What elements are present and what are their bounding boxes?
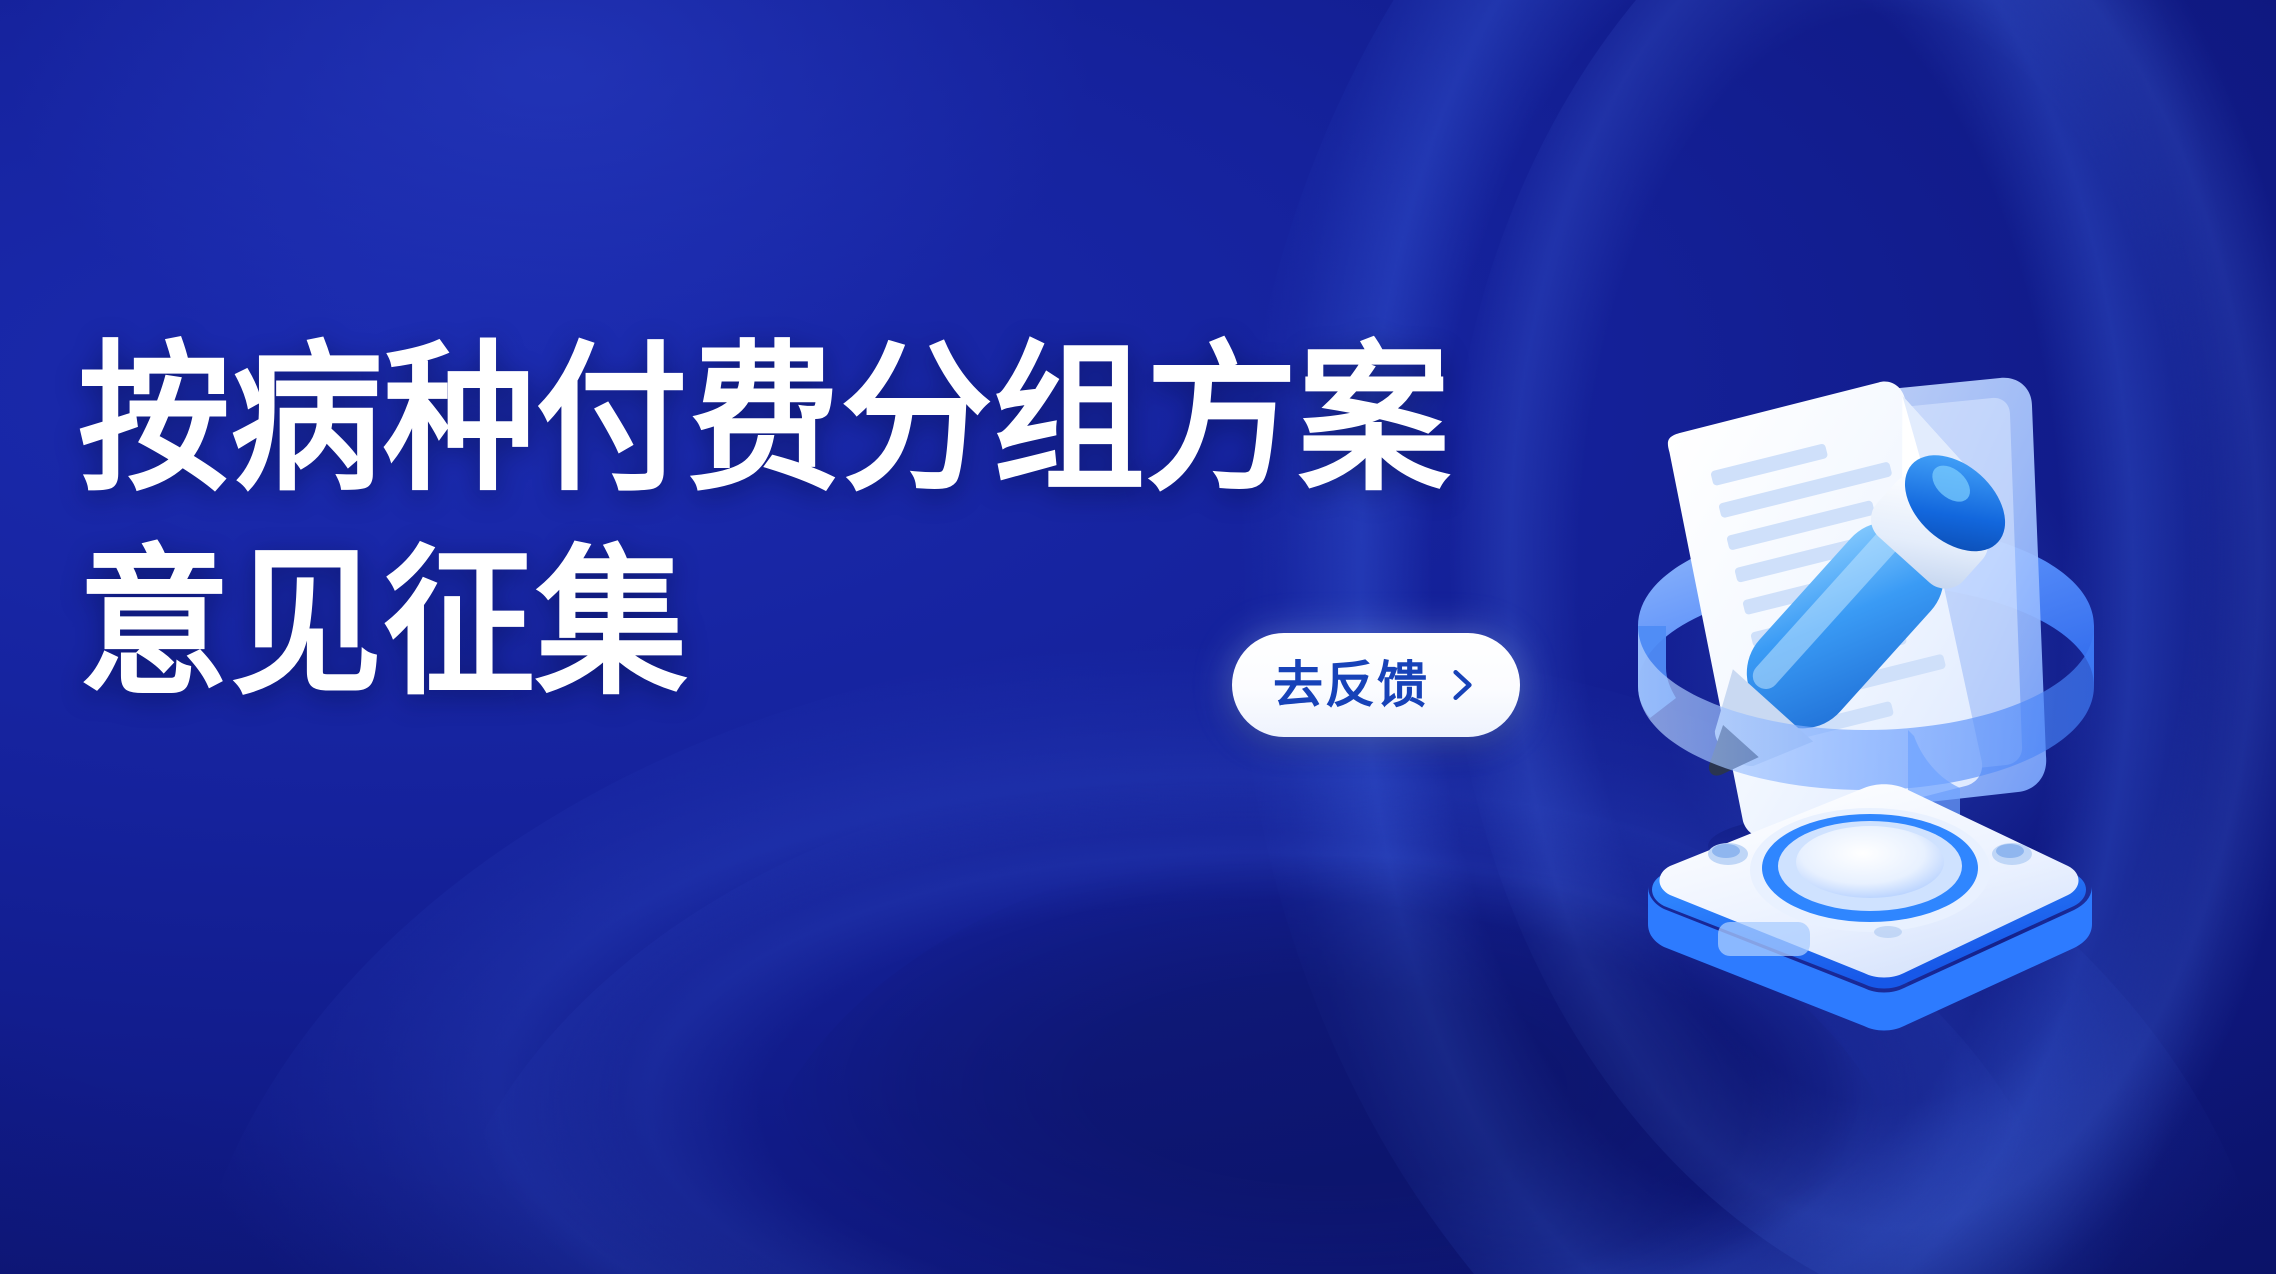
chevron-right-icon [1445,668,1479,702]
go-to-feedback-button[interactable]: 去反馈 [1232,633,1520,737]
go-to-feedback-label: 去反馈 [1273,660,1429,710]
platform-base [1648,784,2092,1030]
page-title-line-1: 按病种付费分组方案 [78,316,1451,525]
feedback-illustration [1608,326,2128,1026]
promo-banner: 按病种付费分组方案 意见征集 去反馈 [0,0,2276,1274]
